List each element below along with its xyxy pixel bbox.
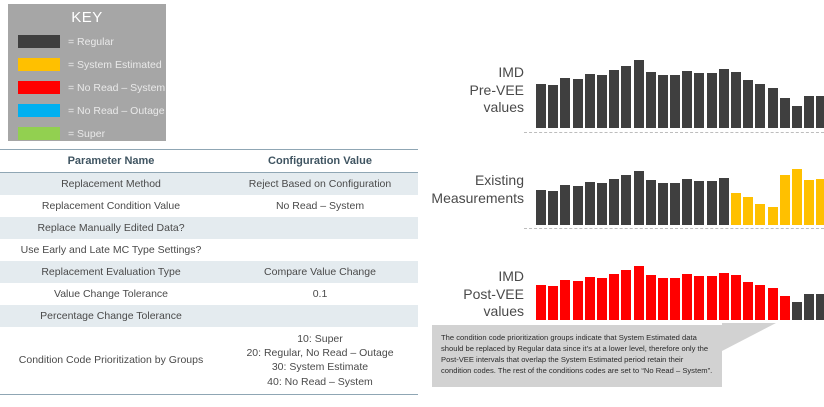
key-legend-panel: KEY = Regular= System Estimated= No Read… — [8, 4, 166, 141]
bar — [658, 278, 668, 320]
bar — [707, 276, 717, 320]
chart-post-vee: IMD Post-VEE values — [430, 235, 824, 320]
table-row: Percentage Change Tolerance — [0, 305, 418, 327]
bar — [682, 71, 692, 128]
key-rows: = Regular= System Estimated= No Read – S… — [8, 31, 166, 144]
divider-dashed-bottom — [524, 228, 824, 229]
key-label-super: = Super — [68, 128, 105, 140]
bar — [694, 276, 704, 320]
bar — [646, 72, 656, 128]
bar — [634, 60, 644, 128]
table-cell-configuration-value: 10: Super 20: Regular, No Read – Outage … — [222, 327, 418, 394]
chart-pre-vee-bars — [536, 28, 824, 128]
bar — [646, 275, 656, 320]
bar — [585, 182, 595, 225]
key-row-super: = Super — [8, 123, 166, 144]
key-row-regular: = Regular — [8, 31, 166, 52]
bar — [731, 72, 741, 128]
table-cell-parameter-name: Value Change Tolerance — [0, 283, 222, 305]
table-row: Use Early and Late MC Type Settings? — [0, 239, 418, 261]
bar — [731, 193, 741, 225]
key-label-no-read-system: = No Read – System — [68, 82, 165, 94]
bar — [634, 171, 644, 225]
table-cell-parameter-name: Use Early and Late MC Type Settings? — [0, 239, 222, 261]
bar — [609, 274, 619, 320]
bar — [804, 96, 814, 128]
table-cell-configuration-value — [222, 217, 418, 239]
table-cell-configuration-value — [222, 305, 418, 327]
chart-existing-measurements-bars — [536, 145, 824, 225]
bar — [780, 296, 790, 320]
key-swatch-no-read-outage — [18, 104, 60, 117]
bar — [719, 69, 729, 128]
key-swatch-no-read-system — [18, 81, 60, 94]
bar — [658, 75, 668, 128]
key-label-system-estimated: = System Estimated — [68, 59, 162, 71]
bar — [670, 75, 680, 128]
key-swatch-super — [18, 127, 60, 140]
bar — [682, 179, 692, 225]
bar — [597, 183, 607, 225]
table-header-row: Parameter Name Configuration Value — [0, 150, 418, 173]
bar — [548, 85, 558, 128]
table-cell-parameter-name: Replace Manually Edited Data? — [0, 217, 222, 239]
bar — [804, 180, 814, 225]
table-header: Parameter Name Configuration Value — [0, 150, 418, 173]
table-row: Replacement Evaluation TypeCompare Value… — [0, 261, 418, 283]
table-cell-parameter-name: Replacement Evaluation Type — [0, 261, 222, 283]
bar — [560, 280, 570, 320]
divider-dashed-top — [524, 132, 824, 133]
bar — [804, 294, 814, 320]
bar — [573, 79, 583, 128]
table-cell-configuration-value: Reject Based on Configuration — [222, 173, 418, 196]
column-header-parameter-name: Parameter Name — [0, 150, 222, 173]
table-cell-parameter-name: Percentage Change Tolerance — [0, 305, 222, 327]
bar — [816, 96, 824, 128]
bar — [707, 73, 717, 128]
bar — [743, 80, 753, 128]
bar — [719, 273, 729, 320]
callout-tail — [722, 323, 776, 351]
bar — [560, 185, 570, 225]
bar — [743, 282, 753, 320]
table-cell-configuration-value: 0.1 — [222, 283, 418, 305]
bar — [670, 183, 680, 225]
bar — [573, 186, 583, 225]
bar — [621, 66, 631, 128]
bar — [621, 175, 631, 225]
bar — [609, 179, 619, 225]
bar — [694, 73, 704, 128]
bar — [792, 169, 802, 225]
bar — [731, 275, 741, 320]
bar — [755, 285, 765, 320]
table-row: Condition Code Prioritization by Groups1… — [0, 327, 418, 394]
chart-post-vee-label: IMD Post-VEE values — [430, 268, 524, 321]
table-body: Replacement MethodReject Based on Config… — [0, 173, 418, 395]
bar — [816, 294, 824, 320]
table-cell-configuration-value: No Read – System — [222, 195, 418, 217]
bar — [755, 204, 765, 225]
table-row: Replacement Condition ValueNo Read – Sys… — [0, 195, 418, 217]
key-label-regular: = Regular — [68, 36, 114, 48]
bar — [755, 84, 765, 128]
bar — [573, 281, 583, 320]
bar — [634, 266, 644, 320]
chart-post-vee-bars — [536, 240, 824, 320]
column-header-configuration-value: Configuration Value — [222, 150, 418, 173]
bar — [670, 278, 680, 320]
bar — [597, 75, 607, 128]
table-cell-parameter-name: Replacement Condition Value — [0, 195, 222, 217]
bar — [585, 74, 595, 128]
table-row: Replace Manually Edited Data? — [0, 217, 418, 239]
bar — [597, 278, 607, 320]
bar — [780, 98, 790, 128]
chart-existing-measurements-label: Existing Measurements — [431, 172, 524, 207]
bar — [719, 178, 729, 225]
callout-box: The condition code prioritization groups… — [432, 325, 722, 387]
bar — [646, 180, 656, 225]
bar — [609, 70, 619, 128]
parameter-table: Parameter Name Configuration Value Repla… — [0, 149, 418, 395]
bar — [792, 106, 802, 128]
bar — [707, 181, 717, 225]
bar — [792, 302, 802, 320]
table-cell-configuration-value — [222, 239, 418, 261]
key-row-no-read-system: = No Read – System — [8, 77, 166, 98]
bar — [621, 270, 631, 320]
key-swatch-system-estimated — [18, 58, 60, 71]
bar — [548, 286, 558, 320]
chart-pre-vee-label: IMD Pre-VEE values — [430, 64, 524, 117]
table-cell-configuration-value: Compare Value Change — [222, 261, 418, 283]
callout-text: The condition code prioritization groups… — [432, 325, 722, 376]
bar — [536, 84, 546, 128]
diagram-canvas: KEY = Regular= System Estimated= No Read… — [0, 0, 824, 407]
bar — [780, 175, 790, 225]
key-row-no-read-outage: = No Read – Outage — [8, 100, 166, 121]
table-cell-parameter-name: Replacement Method — [0, 173, 222, 196]
key-row-system-estimated: = System Estimated — [8, 54, 166, 75]
bar — [694, 181, 704, 225]
bar — [743, 197, 753, 225]
key-swatch-regular — [18, 35, 60, 48]
bar — [682, 274, 692, 320]
bar — [560, 78, 570, 128]
bar — [658, 183, 668, 225]
bar — [768, 288, 778, 320]
bar — [585, 277, 595, 320]
bar — [548, 191, 558, 225]
bar — [536, 190, 546, 225]
table-cell-parameter-name: Condition Code Prioritization by Groups — [0, 327, 222, 394]
chart-existing-measurements: Existing Measurements — [430, 140, 824, 225]
key-title: KEY — [8, 4, 166, 29]
bar — [768, 207, 778, 225]
table-row: Value Change Tolerance0.1 — [0, 283, 418, 305]
chart-pre-vee: IMD Pre-VEE values — [430, 20, 824, 128]
bar — [536, 285, 546, 320]
key-label-no-read-outage: = No Read – Outage — [68, 105, 165, 117]
bar — [768, 88, 778, 128]
table-row: Replacement MethodReject Based on Config… — [0, 173, 418, 196]
bar — [816, 179, 824, 225]
